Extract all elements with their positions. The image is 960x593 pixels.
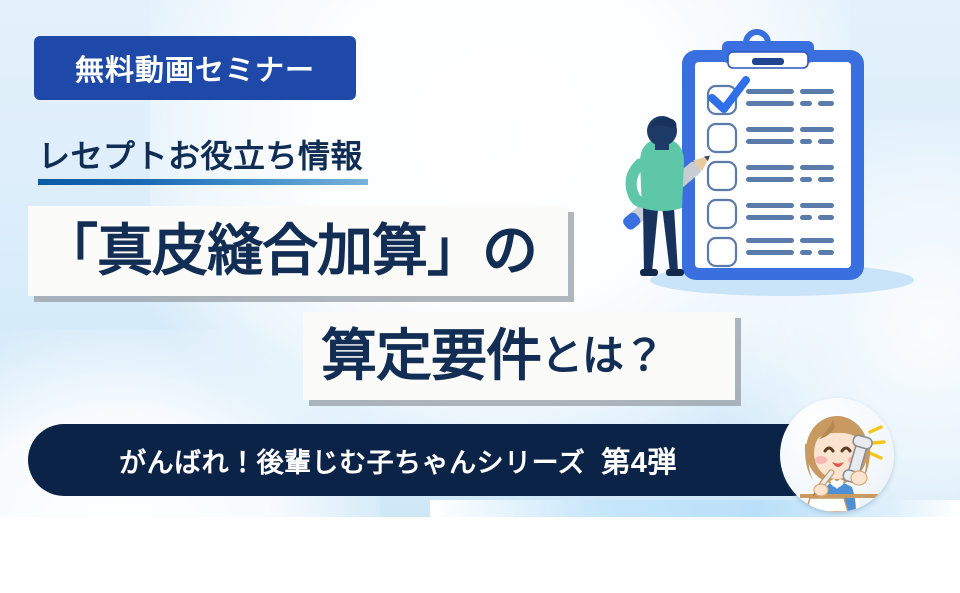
series-pill-label: がんばれ！後輩じむ子ちゃんシリーズ 第4弾 bbox=[119, 439, 677, 481]
headline-line-2-suffix: とは？ bbox=[541, 335, 664, 377]
seminar-banner: 無料動画セミナー レセプトお役立ち情報 「真皮縫合加算」の 算定要件 とは？ が… bbox=[0, 0, 960, 593]
headline-line-2-main: 算定要件 bbox=[321, 328, 541, 384]
background-white-footer bbox=[0, 517, 960, 593]
headline-box-primary: 「真皮縫合加算」の bbox=[28, 206, 568, 296]
headline-box-secondary: 算定要件 とは？ bbox=[303, 312, 735, 400]
series-volume: 第4弾 bbox=[601, 447, 677, 479]
subtitle-underline-rule bbox=[38, 179, 368, 185]
series-pill: がんばれ！後輩じむ子ちゃんシリーズ 第4弾 bbox=[28, 424, 828, 496]
avatar bbox=[780, 398, 894, 512]
series-title: がんばれ！後輩じむ子ちゃんシリーズ bbox=[119, 448, 585, 478]
free-seminar-badge: 無料動画セミナー bbox=[34, 36, 356, 100]
category-subtitle: レセプトお役立ち情報 bbox=[38, 131, 363, 177]
headline-line-1: 「真皮縫合加算」の bbox=[42, 223, 537, 279]
clipboard-checklist-illustration bbox=[600, 14, 945, 314]
badge-label: 無料動画セミナー bbox=[75, 47, 315, 89]
